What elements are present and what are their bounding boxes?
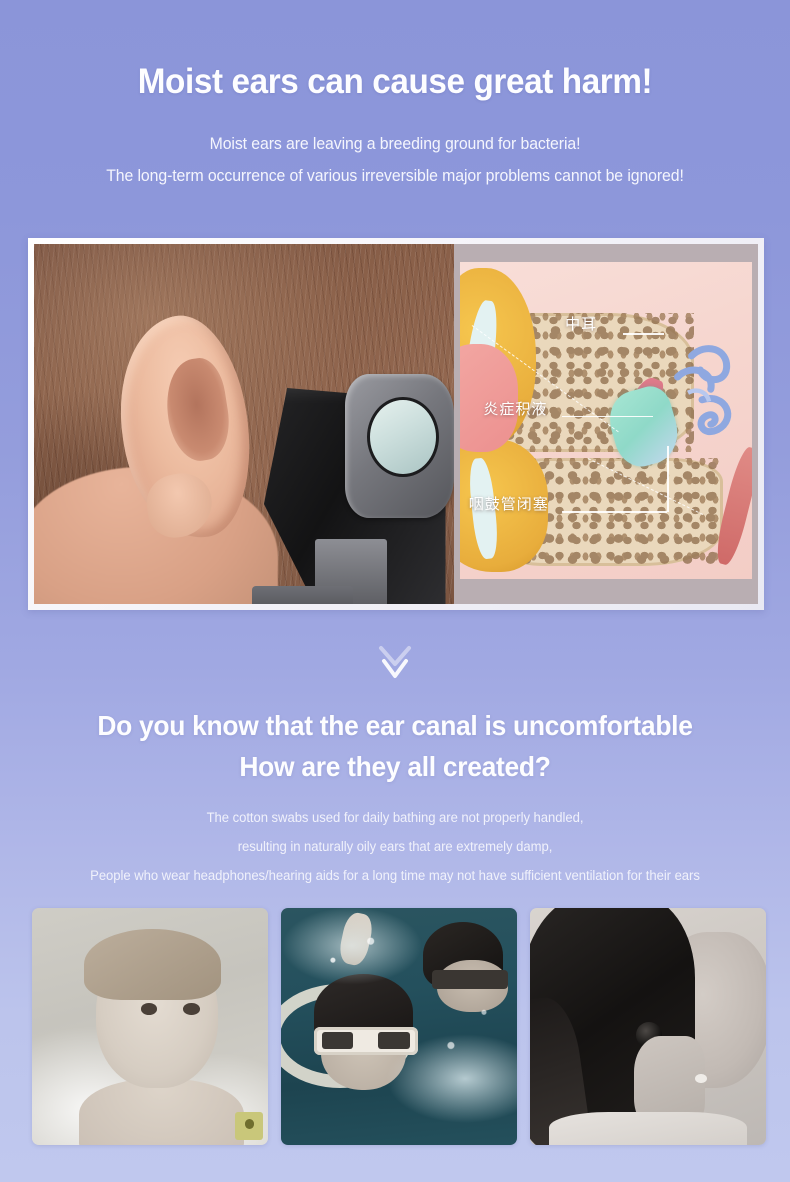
section-two-title-line-1: Do you know that the ear canal is uncomf… — [16, 706, 774, 747]
double-chevron-down-icon — [373, 644, 417, 686]
bath-toy — [235, 1112, 263, 1140]
otoscope-collar — [252, 586, 353, 604]
water-splash — [281, 908, 517, 1145]
infographic-page: Moist ears can cause great harm! Moist e… — [0, 0, 790, 1182]
section-two-subtitle-line-3: People who wear headphones/hearing aids … — [12, 861, 778, 890]
diagram-label-eustachian-obstruction: 咽鼓管闭塞 — [469, 493, 549, 514]
baby-eye-right — [183, 1003, 200, 1015]
woman-shirt — [549, 1112, 747, 1145]
section-two-title: Do you know that the ear canal is uncomf… — [16, 706, 774, 787]
diagram-label-middle-ear: 中耳 — [565, 313, 597, 334]
diagram-label-effusion: 炎症积液 — [483, 398, 547, 419]
label-leader-vertical — [667, 446, 669, 513]
section-two-subtitle: The cotton swabs used for daily bathing … — [12, 803, 778, 890]
diagram-canvas: 中耳 炎症积液 咽鼓管闭塞 — [460, 262, 752, 579]
page-title: Moist ears can cause great harm! — [20, 62, 771, 102]
ear-anatomy-diagram: 中耳 炎症积液 咽鼓管闭塞 — [454, 244, 758, 604]
otoscope-examination-photo — [34, 244, 454, 604]
hero-subtitle-line-1: Moist ears are leaving a breeding ground… — [16, 128, 774, 160]
baby-eye-left — [141, 1003, 158, 1015]
otoscope-head — [345, 374, 454, 518]
label-leader-eustachian — [562, 511, 667, 513]
cochlea-icon — [653, 332, 741, 459]
otoscope-lens — [367, 397, 439, 478]
section-two-subtitle-line-2: resulting in naturally oily ears that ar… — [12, 832, 778, 861]
section-two-subtitle-line-1: The cotton swabs used for daily bathing … — [12, 803, 778, 832]
label-leader-middle-ear — [623, 333, 664, 335]
photo-earbud — [530, 908, 766, 1145]
main-illustration-frame: 中耳 炎症积液 咽鼓管闭塞 — [28, 238, 764, 610]
section-two-title-line-2: How are they all created? — [16, 747, 774, 788]
label-leader-effusion — [562, 416, 652, 418]
baby-torso — [79, 1079, 244, 1145]
photo-kids-swimming — [281, 908, 517, 1145]
section-two: Do you know that the ear canal is uncomf… — [0, 706, 790, 890]
photo-gallery — [32, 908, 766, 1145]
hero-subtitle: Moist ears are leaving a breeding ground… — [16, 128, 774, 192]
baby-hair — [84, 929, 221, 1000]
hero-section: Moist ears can cause great harm! Moist e… — [0, 0, 790, 193]
ear-concha — [160, 354, 236, 465]
section-divider — [0, 644, 790, 686]
photo-baby-bath — [32, 908, 268, 1145]
hero-subtitle-line-2: The long-term occurrence of various irre… — [16, 160, 774, 192]
main-illustration: 中耳 炎症积液 咽鼓管闭塞 — [34, 244, 758, 604]
